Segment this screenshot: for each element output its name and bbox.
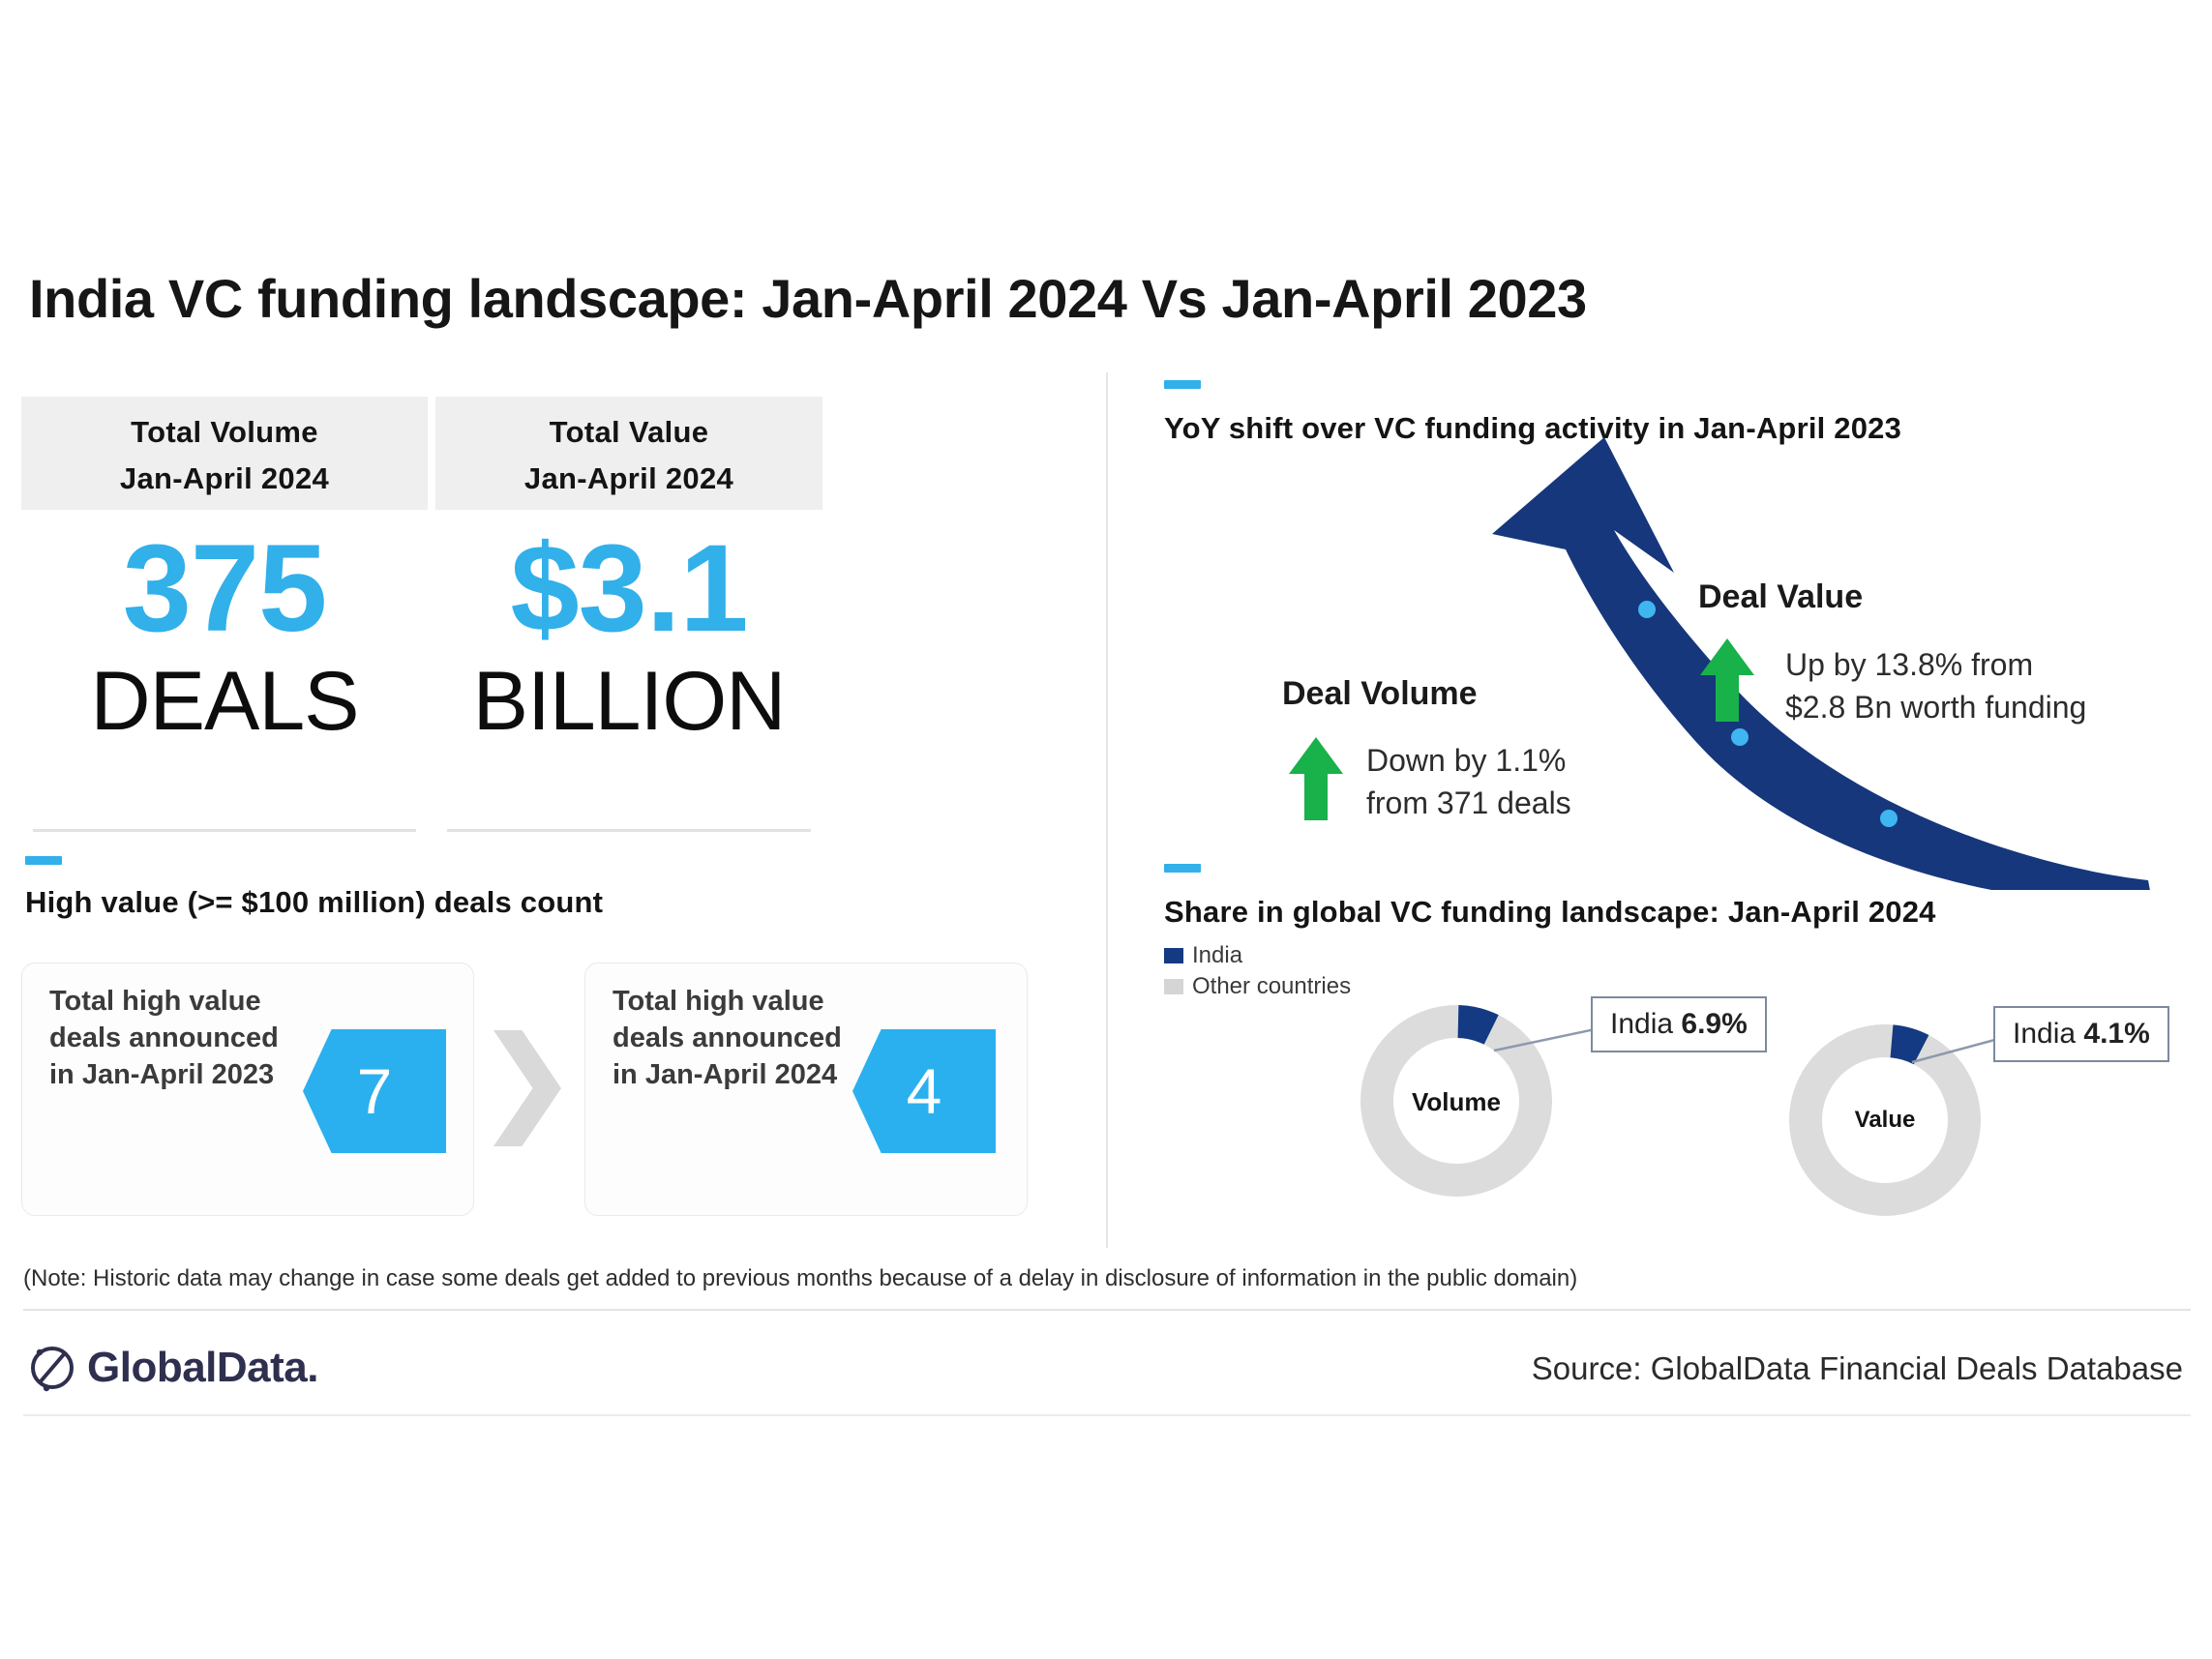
legend-label-other: Other countries: [1192, 973, 1351, 1000]
kpi-header-total-volume: Total Volume Jan-April 2024: [21, 397, 428, 510]
globaldata-logo: GlobalData.: [27, 1343, 318, 1393]
panel-divider: [1106, 372, 1108, 1248]
high-value-card-2024: Total high value deals announced in Jan-…: [584, 963, 1028, 1216]
donut-leader-line-volume: [1490, 1018, 1606, 1076]
page-title: India VC funding landscape: Jan-April 20…: [29, 267, 1587, 330]
donut-center-label-volume: Volume: [1350, 1087, 1563, 1117]
legend-swatch-india: [1164, 948, 1183, 963]
kpi-divider: [447, 829, 811, 832]
kpi-header-total-value: Total Value Jan-April 2024: [435, 397, 822, 510]
deal-volume-detail-line1: Down by 1.1%: [1366, 739, 1571, 782]
donut-callout-volume: India 6.9%: [1591, 996, 1767, 1052]
share-legend: India Other countries: [1164, 940, 1351, 1002]
kpi-card-total-volume: Total Volume Jan-April 2024 375 DEALS: [21, 397, 428, 832]
chevron-right-icon: [493, 1030, 561, 1146]
section-dash-icon: [25, 856, 62, 865]
legend-item-india: India: [1164, 940, 1351, 971]
high-value-card-label: Total high value deals announced in Jan-…: [49, 983, 282, 1093]
donut-callout-prefix-value: India: [2013, 1018, 2083, 1050]
legend-item-other: Other countries: [1164, 971, 1351, 1002]
deal-volume-detail: Down by 1.1% from 371 deals: [1366, 739, 1571, 824]
section-dash-icon: [1164, 864, 1201, 873]
globaldata-mark-icon: [27, 1343, 77, 1393]
donut-callout-value-volume: 6.9%: [1681, 1008, 1747, 1040]
deal-value-detail: Up by 13.8% from $2.8 Bn worth funding: [1785, 643, 2086, 728]
high-value-card-label: Total high value deals announced in Jan-…: [613, 983, 845, 1093]
kpi-header-line1: Total Value: [435, 409, 822, 456]
kpi-divider: [33, 829, 416, 832]
kpi-value-total-volume: 375: [21, 521, 428, 657]
donut-callout-value-value: 4.1%: [2083, 1018, 2149, 1050]
legend-swatch-other: [1164, 979, 1183, 994]
deal-volume-label: Deal Volume: [1282, 675, 1478, 713]
top-whitespace: [0, 0, 2212, 247]
kpi-header-line2: Jan-April 2024: [435, 456, 822, 502]
kpi-header-line1: Total Volume: [21, 409, 428, 456]
section-dash-icon: [1164, 380, 1201, 389]
deal-value-detail-line1: Up by 13.8% from: [1785, 643, 2086, 686]
donut-callout-prefix-volume: India: [1610, 1008, 1681, 1040]
donut-callout-value: India 4.1%: [1993, 1006, 2169, 1062]
deal-volume-detail-line2: from 371 deals: [1366, 782, 1571, 824]
kpi-unit-total-value: BILLION: [435, 657, 822, 746]
legend-label-india: India: [1192, 942, 1242, 969]
globaldata-wordmark: GlobalData.: [87, 1344, 318, 1392]
green-up-arrow-icon: [1289, 737, 1343, 820]
high-value-count-badge: 4: [852, 1029, 996, 1153]
kpi-card-total-value: Total Value Jan-April 2024 $3.1 BILLION: [435, 397, 822, 832]
footer-divider: [23, 1414, 2191, 1416]
bottom-whitespace: [0, 1432, 2212, 1659]
kpi-value-total-value: $3.1: [435, 521, 822, 657]
high-value-count-badge: 7: [303, 1029, 446, 1153]
section-title-high-value: High value (>= $100 million) deals count: [25, 885, 603, 920]
section-title-share: Share in global VC funding landscape: Ja…: [1164, 895, 1936, 930]
high-value-card-2023: Total high value deals announced in Jan-…: [21, 963, 474, 1216]
green-up-arrow-icon: [1700, 638, 1754, 722]
deal-value-detail-line2: $2.8 Bn worth funding: [1785, 686, 2086, 728]
kpi-unit-total-volume: DEALS: [21, 657, 428, 746]
note-divider-top: [23, 1309, 2191, 1311]
footnote: (Note: Historic data may change in case …: [23, 1265, 1577, 1292]
kpi-header-line2: Jan-April 2024: [21, 456, 428, 502]
source-label: Source: GlobalData Financial Deals Datab…: [1532, 1350, 2183, 1387]
deal-value-label: Deal Value: [1698, 578, 1863, 616]
donut-center-label-value: Value: [1779, 1107, 1991, 1134]
